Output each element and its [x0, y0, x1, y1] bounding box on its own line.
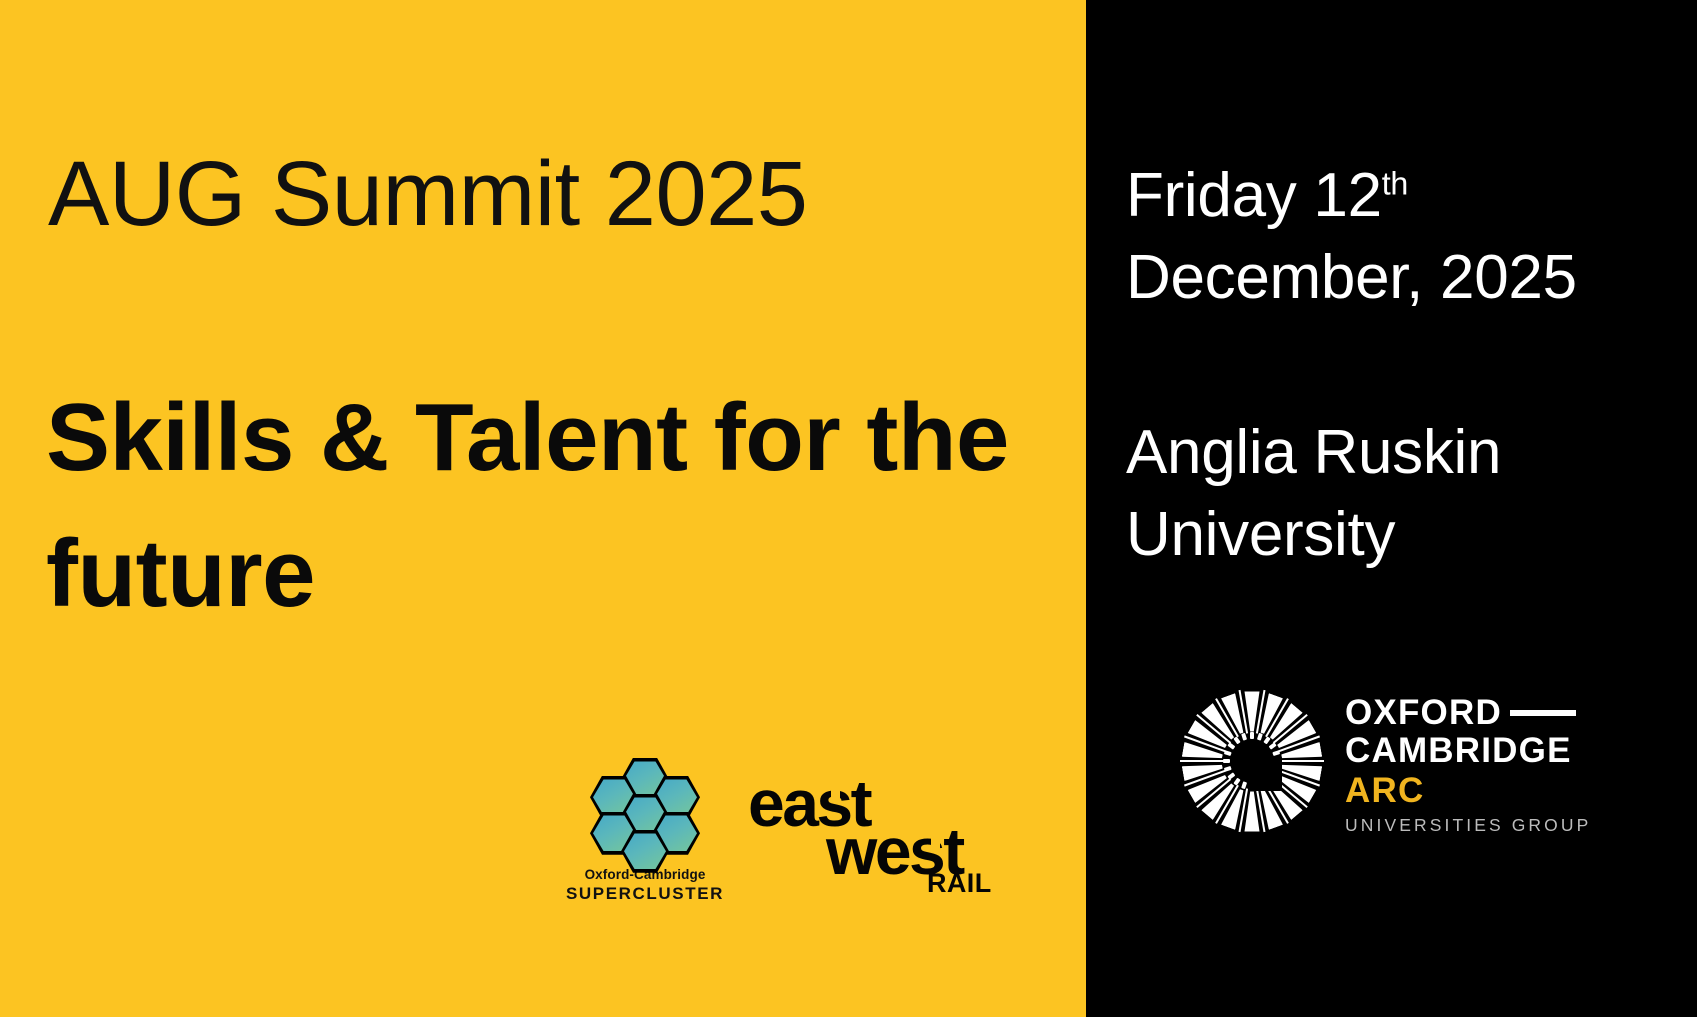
event-title: AUG Summit 2025: [48, 148, 807, 240]
arc-line-universities-group: UNIVERSITIES GROUP: [1345, 815, 1591, 836]
burst-ray: [1180, 760, 1224, 762]
burst-ray: [1280, 760, 1324, 762]
event-date-ordinal: th: [1382, 165, 1408, 201]
ewr-word-rail: RAIL: [927, 870, 992, 897]
east-west-rail-logo: east west RAIL: [748, 770, 998, 905]
burst-inner-dash: [1269, 742, 1277, 749]
right-black-panel: Friday 12th December, 2025 Anglia Ruskin…: [1086, 0, 1697, 1017]
left-yellow-panel: AUG Summit 2025 Skills & Talent for the …: [0, 0, 1086, 1017]
burst-inner-mask: [1248, 757, 1282, 791]
oxford-cambridge-arc-logo: OXFORD CAMBRIDGE ARC UNIVERSITIES GROUP: [1181, 690, 1591, 836]
arc-line-oxford: OXFORD: [1345, 694, 1502, 731]
burst-inner-dash: [1224, 750, 1232, 756]
burst-inner-dash: [1263, 736, 1270, 744]
arc-line-arc: ARC: [1345, 770, 1591, 811]
partner-logo-row: Oxford-Cambridge SUPERCLUSTER east west …: [560, 758, 998, 905]
event-headline: Skills & Talent for the future: [46, 370, 1056, 643]
ewr-t-cut-2: [931, 836, 940, 849]
event-venue-line1: Anglia Ruskin: [1126, 418, 1501, 487]
event-date-day: Friday 12: [1126, 161, 1382, 230]
burst-inner-dash: [1227, 772, 1235, 779]
radial-burst-icon: [1181, 690, 1323, 832]
burst-inner-dash: [1233, 736, 1240, 744]
burst-inner-dash: [1257, 733, 1263, 741]
supercluster-logo: Oxford-Cambridge SUPERCLUSTER: [560, 758, 730, 905]
arc-wordmark: OXFORD CAMBRIDGE ARC UNIVERSITIES GROUP: [1345, 690, 1591, 836]
burst-inner-dash: [1241, 733, 1247, 741]
arc-line-cambridge: CAMBRIDGE: [1345, 731, 1591, 770]
burst-inner-dash: [1223, 759, 1230, 763]
arc-rule-dash: [1510, 710, 1576, 716]
supercluster-label-line2: SUPERCLUSTER: [566, 883, 724, 905]
burst-inner-dash: [1224, 766, 1232, 772]
burst-inner-dash: [1233, 778, 1240, 786]
poster-canvas: AUG Summit 2025 Skills & Talent for the …: [0, 0, 1697, 1017]
event-date-month-year: December, 2025: [1126, 243, 1577, 312]
event-venue-line2: University: [1126, 500, 1395, 569]
event-venue: Anglia Ruskin University: [1126, 412, 1646, 577]
burst-inner-dash: [1227, 742, 1235, 749]
burst-inner-dash: [1272, 750, 1280, 756]
event-date: Friday 12th December, 2025: [1126, 155, 1666, 319]
hexagon-cluster-icon: [590, 758, 700, 858]
burst-inner-dash: [1250, 732, 1254, 739]
ewr-t-cut-1: [831, 788, 840, 801]
